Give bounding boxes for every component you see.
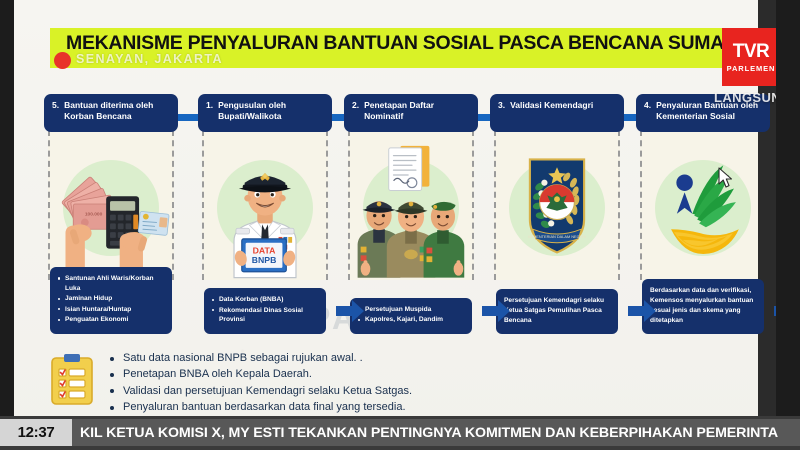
flow-step-3: 3. Validasi Kemendagri — [490, 94, 624, 342]
summary-bullet: Validasi dan persetujuan Kemendagri sela… — [108, 383, 412, 399]
flow-step-5: 5. Bantuan diterima oleh Korban Bencana — [44, 94, 178, 342]
process-flow: 1. Pengusulan oleh Bupati/Walikota — [44, 94, 760, 342]
flow-step-5-number: 5. — [52, 100, 59, 126]
kemensos-logo-icon — [642, 130, 764, 280]
channel-logo-main: TVR — [733, 42, 770, 61]
svg-text:BNPB: BNPB — [252, 255, 277, 265]
flow-arrow-4 — [774, 299, 776, 323]
flow-arrow-2 — [482, 299, 510, 323]
news-ticker-bar: 12:37 KIL KETUA KOMISI X, MY ESTI TEKANK… — [0, 416, 800, 450]
flow-step-2-notes: Persetujuan Muspida Kapolres, Kajari, Da… — [350, 298, 472, 334]
summary-bullet: Penyaluran bantuan berdasarkan data fina… — [108, 399, 412, 415]
live-label: LANGSUNG — [714, 90, 776, 105]
flow-step-5-notes: Santunan Ahli Waris/Korban Luka Jaminan … — [50, 267, 172, 334]
muspida-officers-with-document-icon — [350, 130, 472, 280]
flow-arrow-3 — [628, 299, 656, 323]
svg-text:KEMENTERIAN DALAM NEGERI: KEMENTERIAN DALAM NEGERI — [528, 234, 586, 239]
flow-step-2-illustration-area — [348, 130, 474, 280]
flow-arrow-1 — [336, 299, 364, 323]
flow-step-1-header: 1. Pengusulan oleh Bupati/Walikota — [198, 94, 332, 132]
official-with-data-board-icon: DATA BNPB — [204, 130, 326, 280]
kemendagri-emblem-icon: KEMENTERIAN DALAM NEGERI — [496, 130, 618, 280]
flow-step-3-note-text: Persetujuan Kemendagri selaku Ketua Satg… — [504, 296, 611, 326]
flow-step-5-title: Bantuan diterima oleh Korban Bencana — [64, 100, 171, 126]
flow-step-3-title: Validasi Kemendagri — [510, 100, 593, 126]
summary-bullet: Satu data nasional BNPB sebagai rujukan … — [108, 350, 412, 366]
summary-bullet-list: Satu data nasional BNPB sebagai rujukan … — [108, 350, 412, 416]
flow-step-4-illustration-area — [640, 130, 766, 280]
flow-step-3-illustration-area: KEMENTERIAN DALAM NEGERI — [494, 130, 620, 280]
svg-text:DATA: DATA — [253, 245, 277, 255]
flow-step-1-number: 1. — [206, 100, 213, 126]
flow-step-5-note-item: Isian Huntara/Huntap — [58, 305, 165, 315]
flow-step-4-number: 4. — [644, 100, 651, 126]
flow-step-3-number: 3. — [498, 100, 505, 126]
broadcast-video-frame: R PARLEM MEKANISME PENYALURAN BANTUAN SO… — [14, 0, 776, 450]
summary-bullet: Penetapan BNBA oleh Kepala Daerah. — [108, 366, 412, 382]
flow-step-2-title: Penetapan Daftar Nominatif — [364, 100, 471, 126]
flow-step-5-note-item: Penguatan Ekonomi — [58, 315, 165, 325]
flow-step-4: 4. Penyaluran Bantuan oleh Kementerian S… — [636, 94, 770, 342]
ticker-headline: KIL KETUA KOMISI X, MY ESTI TEKANKAN PEN… — [72, 425, 800, 441]
flow-step-1-notes: Data Korban (BNBA) Rekomendasi Dinas Sos… — [204, 288, 326, 334]
flow-step-2-number: 2. — [352, 100, 359, 126]
flow-step-2-note-item: Persetujuan Muspida — [358, 305, 465, 315]
news-ticker-inner: 12:37 KIL KETUA KOMISI X, MY ESTI TEKANK… — [0, 419, 800, 446]
flow-step-5-illustration-area: 100.000 — [48, 130, 174, 280]
flow-step-2-header: 2. Penetapan Daftar Nominatif — [344, 94, 478, 132]
live-indicator-dot — [54, 52, 71, 69]
flow-step-2-note-item: Kapolres, Kajari, Dandim — [358, 315, 465, 325]
svg-text:100.000: 100.000 — [85, 212, 103, 218]
location-label: SENAYAN, JAKARTA — [76, 52, 223, 66]
hands-cash-calculator-id-card-icon: 100.000 — [50, 130, 172, 280]
flow-step-1-title: Pengusulan oleh Bupati/Walikota — [218, 100, 325, 126]
summary-section: Satu data nasional BNPB sebagai rujukan … — [50, 350, 750, 418]
flow-step-4-notes: Berdasarkan data dan verifikasi, Kemenso… — [642, 279, 764, 334]
clock-display: 12:37 — [0, 419, 72, 446]
flow-step-5-note-item: Santunan Ahli Waris/Korban Luka — [58, 274, 165, 293]
flow-step-3-header: 3. Validasi Kemendagri — [490, 94, 624, 132]
channel-logo-sub: PARLEMEN — [727, 64, 776, 73]
flow-step-1-note-item: Data Korban (BNBA) — [212, 295, 319, 305]
flow-step-1-illustration-area: DATA BNPB — [202, 130, 328, 280]
channel-logo: TVR PARLEMEN — [722, 28, 776, 86]
screen-root: R PARLEM MEKANISME PENYALURAN BANTUAN SO… — [0, 0, 800, 450]
flow-step-1: 1. Pengusulan oleh Bupati/Walikota — [198, 94, 332, 342]
flow-step-5-header: 5. Bantuan diterima oleh Korban Bencana — [44, 94, 178, 132]
clipboard-checklist-icon — [50, 352, 94, 406]
flow-step-3-notes: Persetujuan Kemendagri selaku Ketua Satg… — [496, 289, 618, 334]
flow-step-2: 2. Penetapan Daftar Nominatif — [344, 94, 478, 342]
flow-step-4-note-text: Berdasarkan data dan verifikasi, Kemenso… — [650, 286, 757, 326]
flow-step-5-note-item: Jaminan Hidup — [58, 294, 165, 304]
flow-step-1-note-item: Rekomendasi Dinas Sosial Provinsi — [212, 306, 319, 325]
